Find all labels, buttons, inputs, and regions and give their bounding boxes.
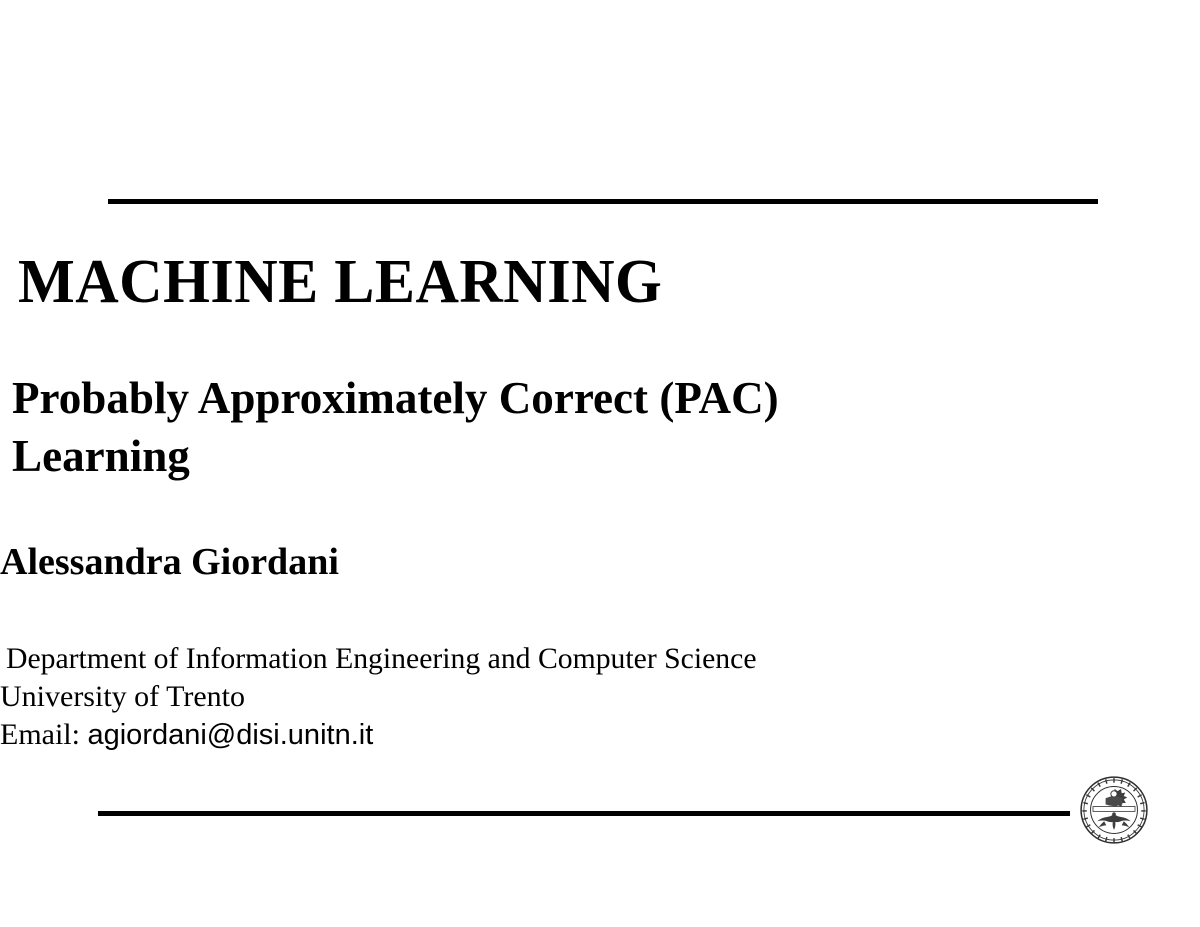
email-address: agiordani@disi.unitn.it	[87, 719, 373, 751]
top-divider-rule	[108, 199, 1098, 204]
email-label: Email:	[0, 718, 87, 751]
slide-canvas: MACHINE LEARNING Probably Approximately …	[0, 0, 1200, 927]
affiliation-department: Department of Information Engineering an…	[6, 640, 1194, 678]
affiliation-university: University of Trento	[0, 678, 1200, 716]
author-name: Alessandra Giordani	[0, 540, 1200, 584]
page-title: MACHINE LEARNING	[18, 250, 1182, 314]
bottom-divider-rule	[98, 811, 1070, 816]
affiliation-email-line: Email: agiordani@disi.unitn.it	[0, 716, 1200, 754]
subtitle-line-2: Learning	[12, 427, 1188, 485]
page-subtitle: Probably Approximately Correct (PAC) Lea…	[12, 369, 1188, 485]
affiliation-block: Department of Information Engineering an…	[0, 640, 1200, 754]
university-seal-icon	[1079, 775, 1149, 845]
subtitle-line-1: Probably Approximately Correct (PAC)	[12, 369, 1188, 427]
